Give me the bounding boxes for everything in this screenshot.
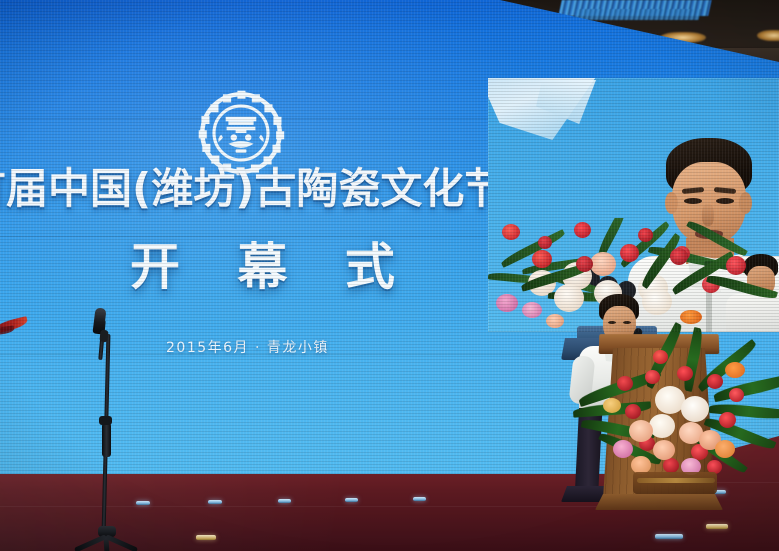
stage-base-light (413, 497, 426, 501)
stage-base-light (196, 535, 216, 540)
stage-base-light (208, 500, 222, 504)
mic-stand-adjuster (102, 423, 111, 457)
blue-crystal-light-strip-lower (574, 9, 701, 20)
video-speaker-eye (684, 198, 702, 204)
floral-arrangement (595, 352, 775, 502)
bouquet-ribbon (637, 478, 715, 483)
video-speaker-ear (665, 192, 678, 214)
speaker-eye (608, 321, 616, 324)
festival-headline: 首届中国(潍坊)古陶瓷文化节 (0, 168, 464, 210)
mic-stand-knob (99, 416, 112, 425)
red-leaf-graphic-shadow (0, 326, 14, 336)
stage-photograph: 首届中国(潍坊)古陶瓷文化节 开 幕 式 2015年6月 · 青龙小镇 (0, 0, 779, 551)
mic-stand-leg (105, 534, 138, 551)
stage-base-light (345, 498, 358, 502)
floor-microphone-stand (78, 308, 138, 551)
ceremony-subhead: 开 幕 式 (130, 242, 430, 292)
mic-stand-leg (74, 534, 107, 551)
event-date-location: 2015年6月 · 青龙小镇 (166, 337, 329, 357)
speaker-eye (623, 321, 631, 324)
video-speaker-ear (739, 192, 752, 214)
video-speaker-eye (716, 198, 734, 204)
recessed-downlight (757, 30, 779, 41)
bouquet-basket (633, 472, 717, 494)
podium-area (555, 290, 779, 551)
stage-base-light (136, 501, 150, 505)
stage-base-light (278, 499, 291, 503)
mic-clip (99, 330, 108, 343)
